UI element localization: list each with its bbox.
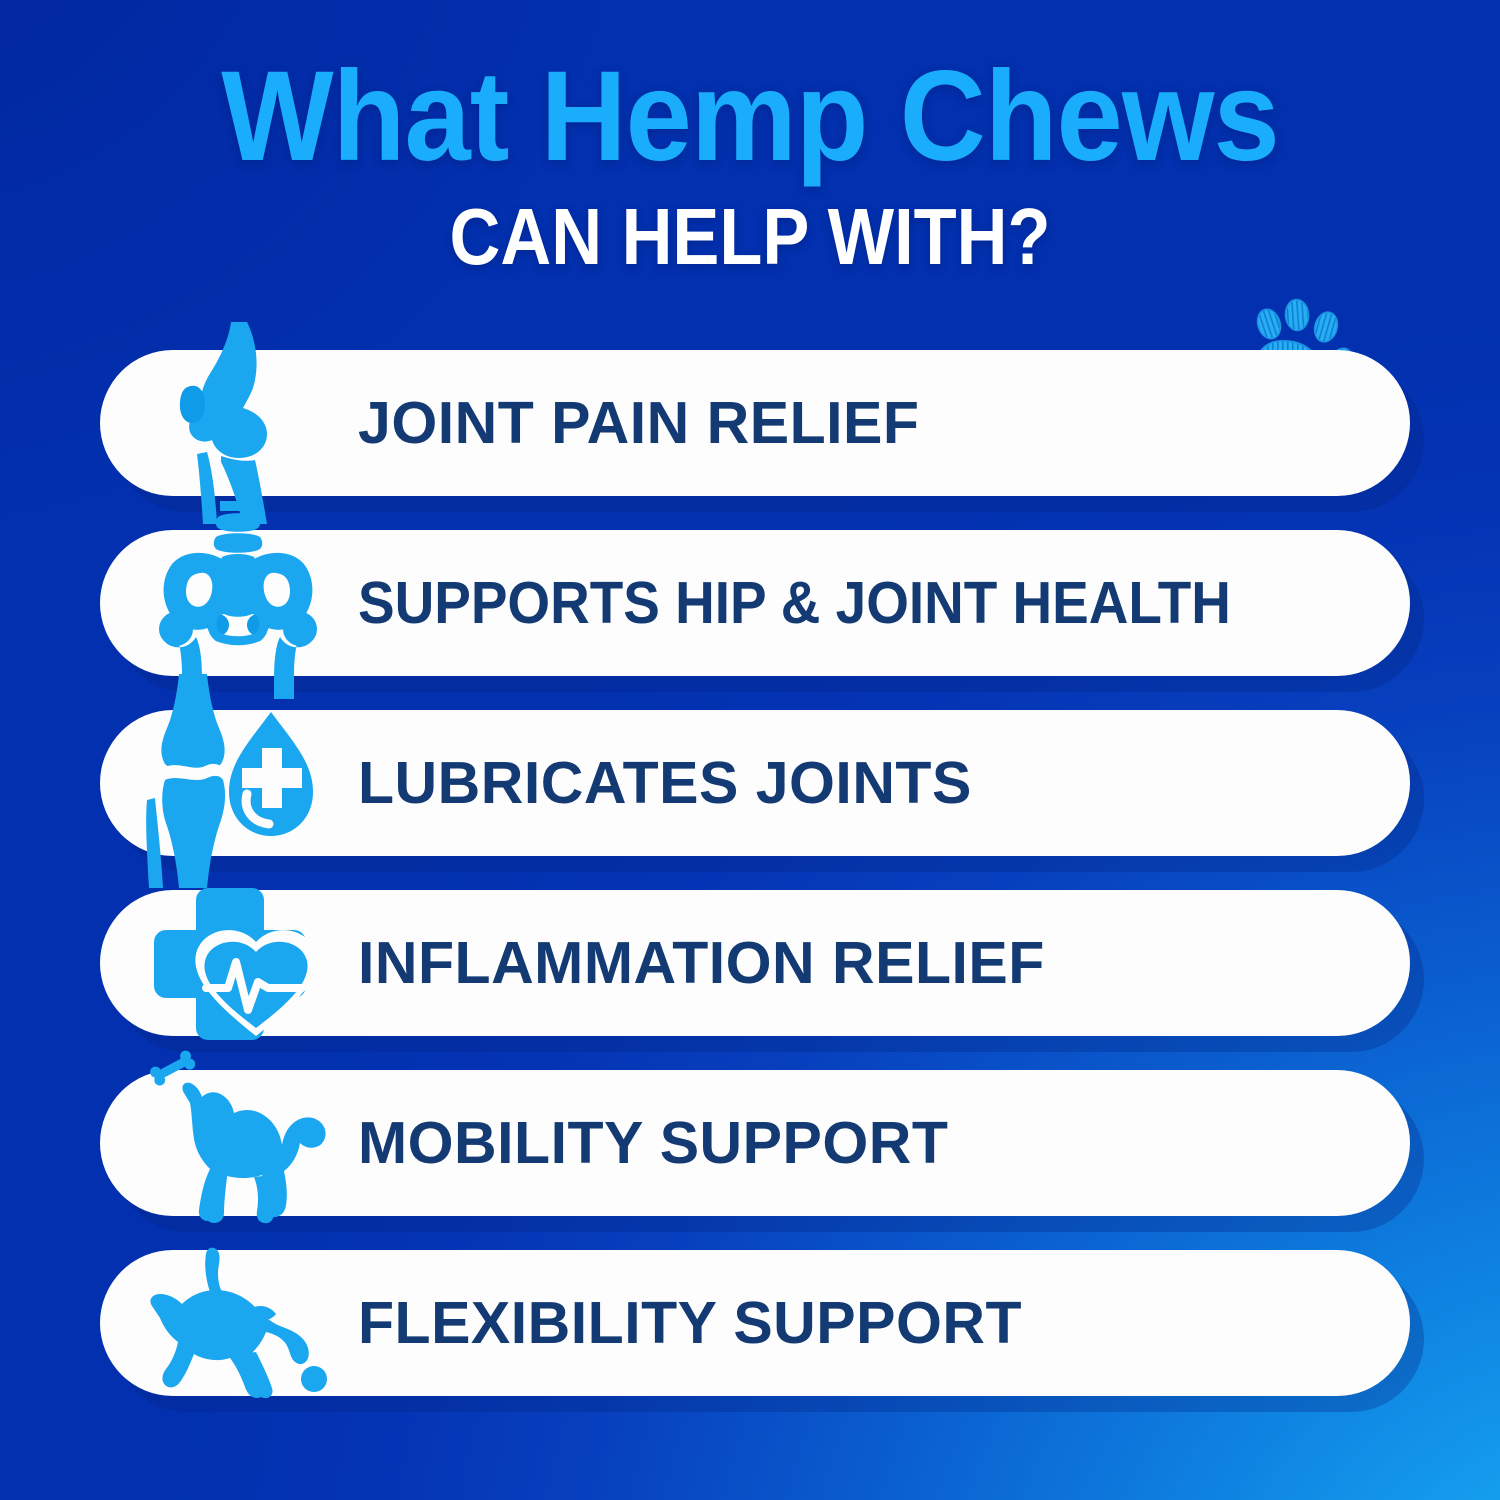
benefit-row-mobility-support[interactable]: MOBILITY SUPPORT <box>100 1070 1410 1216</box>
benefit-row-lubricates-joints[interactable]: LUBRICATES JOINTS <box>100 710 1410 856</box>
page-title: What Hemp Chews <box>53 52 1448 183</box>
benefit-row-inflammation-relief[interactable]: INFLAMMATION RELIEF <box>100 890 1410 1036</box>
benefit-row-flexibility-support[interactable]: FLEXIBILITY SUPPORT <box>100 1250 1410 1396</box>
benefit-label: JOINT PAIN RELIEF <box>358 389 919 457</box>
poster-header: What Hemp Chews CAN HELP WITH? <box>0 52 1500 277</box>
standing-dog-bone-icon <box>134 1048 342 1238</box>
benefit-label: INFLAMMATION RELIEF <box>358 929 1045 997</box>
medical-cross-heart-icon <box>134 868 342 1058</box>
hip-pelvis-bone-icon <box>134 508 342 698</box>
benefit-label: FLEXIBILITY SUPPORT <box>358 1289 1022 1357</box>
infographic-poster: What Hemp Chews CAN HELP WITH? <box>0 0 1500 1500</box>
benefit-row-joint-pain-relief[interactable]: JOINT PAIN RELIEF <box>100 350 1410 496</box>
benefit-row-supports-hip-joint-health[interactable]: SUPPORTS HIP & JOINT HEALTH <box>100 530 1410 676</box>
joint-water-drop-icon <box>134 688 342 878</box>
page-subtitle: CAN HELP WITH? <box>90 197 1410 277</box>
benefit-label: SUPPORTS HIP & JOINT HEALTH <box>358 569 1231 637</box>
benefit-label: LUBRICATES JOINTS <box>358 749 972 817</box>
benefit-label: MOBILITY SUPPORT <box>358 1109 948 1177</box>
knee-joint-bone-icon <box>134 328 342 518</box>
jumping-dog-ball-icon <box>134 1228 342 1418</box>
